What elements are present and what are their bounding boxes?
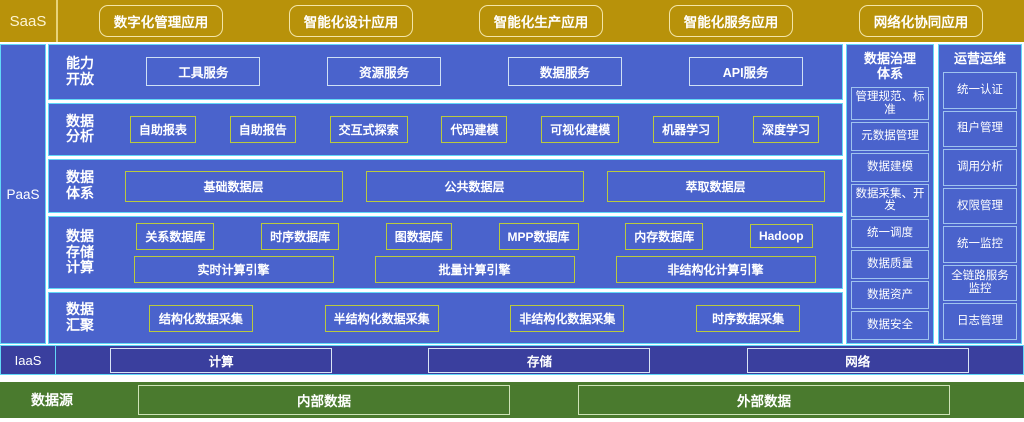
row-data-storage-compute-label: 数据 存储 计算 [49, 229, 107, 276]
row-ability-open-label: 能力 开放 [49, 56, 107, 87]
row-data-gathering: 数据 汇聚 结构化数据采集 半结构化数据采集 非结构化数据采集 时序数据采集 [48, 292, 843, 344]
storage-engine-0[interactable]: 实时计算引擎 [134, 256, 334, 283]
ops-item-3[interactable]: 权限管理 [943, 188, 1017, 225]
row-storage-label-line1: 数据 [66, 229, 94, 245]
paas-layer: PaaS 能力 开放 工具服务 资源服务 数据服务 API服务 [0, 44, 1024, 344]
gathering-item-2[interactable]: 非结构化数据采集 [510, 305, 624, 332]
row-data-analysis: 数据 分析 自助报表 自助报告 交互式探索 代码建模 可视化建模 机器学习 深度… [48, 103, 843, 157]
paas-rows: 能力 开放 工具服务 资源服务 数据服务 API服务 [48, 44, 843, 344]
row-data-system-label-line2: 体系 [66, 186, 94, 202]
saas-layer: SaaS 数字化管理应用 智能化设计应用 智能化生产应用 智能化服务应用 网络化… [0, 0, 1024, 42]
storage-engine-1[interactable]: 批量计算引擎 [375, 256, 575, 283]
gathering-item-1[interactable]: 半结构化数据采集 [325, 305, 439, 332]
panel-operations-maintenance-title: 运营运维 [954, 52, 1006, 67]
governance-item-3[interactable]: 数据采集、开发 [851, 184, 929, 217]
row-data-gathering-content: 结构化数据采集 半结构化数据采集 非结构化数据采集 时序数据采集 [107, 293, 842, 343]
analysis-item-6[interactable]: 深度学习 [753, 116, 819, 143]
ops-item-0[interactable]: 统一认证 [943, 72, 1017, 109]
analysis-item-0[interactable]: 自助报表 [130, 116, 196, 143]
ability-item-1[interactable]: 资源服务 [327, 57, 441, 86]
paas-body: 能力 开放 工具服务 资源服务 数据服务 API服务 [46, 44, 1024, 344]
iaas-item-0[interactable]: 计算 [110, 348, 332, 373]
row-storage-label-line2: 存储 [66, 245, 94, 261]
panel-operations-maintenance: 运营运维 统一认证 租户管理 调用分析 权限管理 统一监控 全链路服务监控 日志… [938, 44, 1022, 344]
saas-item-3[interactable]: 智能化服务应用 [669, 5, 794, 37]
row-ability-open: 能力 开放 工具服务 资源服务 数据服务 API服务 [48, 44, 843, 100]
row-ability-open-label-line2: 开放 [66, 72, 94, 88]
saas-item-0[interactable]: 数字化管理应用 [99, 5, 224, 37]
saas-item-1[interactable]: 智能化设计应用 [289, 5, 414, 37]
iaas-item-1[interactable]: 存储 [428, 348, 650, 373]
governance-item-6[interactable]: 数据资产 [851, 281, 929, 310]
row-ability-open-content: 工具服务 资源服务 数据服务 API服务 [107, 45, 842, 99]
datasource-item-1[interactable]: 外部数据 [578, 385, 950, 415]
governance-item-4[interactable]: 统一调度 [851, 219, 929, 248]
governance-title-line1: 数据治理 [864, 52, 916, 67]
analysis-item-5[interactable]: 机器学习 [653, 116, 719, 143]
row-data-system: 数据 体系 基础数据层 公共数据层 萃取数据层 [48, 159, 843, 213]
saas-item-4[interactable]: 网络化协同应用 [859, 5, 984, 37]
row-data-analysis-label-line1: 数据 [66, 114, 94, 130]
analysis-item-4[interactable]: 可视化建模 [541, 116, 619, 143]
row-data-analysis-label-line2: 分析 [66, 129, 94, 145]
storage-db-5[interactable]: Hadoop [750, 224, 813, 248]
system-item-1[interactable]: 公共数据层 [366, 171, 584, 202]
iaas-layer: IaaS 计算 存储 网络 [0, 345, 1024, 375]
ability-item-3[interactable]: API服务 [689, 57, 803, 86]
storage-engine-2[interactable]: 非结构化计算引擎 [616, 256, 816, 283]
ops-item-6[interactable]: 日志管理 [943, 303, 1017, 340]
row-data-gathering-label: 数据 汇聚 [49, 302, 107, 333]
row-data-system-label-line1: 数据 [66, 170, 94, 186]
analysis-item-1[interactable]: 自助报告 [230, 116, 296, 143]
governance-item-7[interactable]: 数据安全 [851, 311, 929, 340]
row-data-analysis-content: 自助报表 自助报告 交互式探索 代码建模 可视化建模 机器学习 深度学习 [107, 104, 842, 156]
panel-data-governance: 数据治理 体系 管理规范、标准 元数据管理 数据建模 数据采集、开发 统一调度 … [846, 44, 934, 344]
datasource-layer-label: 数据源 [0, 390, 104, 410]
paas-layer-label: PaaS [0, 44, 46, 344]
storage-db-4[interactable]: 内存数据库 [625, 223, 703, 250]
ops-item-2[interactable]: 调用分析 [943, 149, 1017, 186]
governance-title-line2: 体系 [864, 67, 916, 82]
panel-data-governance-title: 数据治理 体系 [864, 52, 916, 82]
ability-item-2[interactable]: 数据服务 [508, 57, 622, 86]
system-item-0[interactable]: 基础数据层 [125, 171, 343, 202]
system-item-2[interactable]: 萃取数据层 [607, 171, 825, 202]
row-data-storage-compute-content: 关系数据库 时序数据库 图数据库 MPP数据库 内存数据库 Hadoop 实时计… [107, 217, 842, 288]
datasource-items: 内部数据 外部数据 [104, 385, 1024, 415]
datasource-item-0[interactable]: 内部数据 [138, 385, 510, 415]
saas-item-2[interactable]: 智能化生产应用 [479, 5, 604, 37]
paas-side-panels: 数据治理 体系 管理规范、标准 元数据管理 数据建模 数据采集、开发 统一调度 … [846, 44, 1024, 344]
iaas-item-2[interactable]: 网络 [747, 348, 969, 373]
row-gathering-label-line1: 数据 [66, 302, 94, 318]
governance-item-5[interactable]: 数据质量 [851, 250, 929, 279]
saas-layer-label: SaaS [0, 0, 58, 42]
panel-operations-maintenance-items: 统一认证 租户管理 调用分析 权限管理 统一监控 全链路服务监控 日志管理 [943, 72, 1017, 340]
gathering-item-0[interactable]: 结构化数据采集 [149, 305, 253, 332]
row-data-system-label: 数据 体系 [49, 170, 107, 201]
row-gathering-label-line2: 汇聚 [66, 318, 94, 334]
governance-item-1[interactable]: 元数据管理 [851, 122, 929, 151]
architecture-diagram: SaaS 数字化管理应用 智能化设计应用 智能化生产应用 智能化服务应用 网络化… [0, 0, 1024, 422]
governance-item-0[interactable]: 管理规范、标准 [851, 87, 929, 120]
saas-items: 数字化管理应用 智能化设计应用 智能化生产应用 智能化服务应用 网络化协同应用 [58, 0, 1024, 42]
analysis-item-2[interactable]: 交互式探索 [330, 116, 408, 143]
ops-item-4[interactable]: 统一监控 [943, 226, 1017, 263]
storage-db-row: 关系数据库 时序数据库 图数据库 MPP数据库 内存数据库 Hadoop [107, 223, 842, 250]
row-data-system-content: 基础数据层 公共数据层 萃取数据层 [107, 160, 842, 212]
storage-db-0[interactable]: 关系数据库 [136, 223, 214, 250]
storage-db-3[interactable]: MPP数据库 [499, 223, 579, 250]
storage-db-2[interactable]: 图数据库 [386, 223, 452, 250]
panel-data-governance-items: 管理规范、标准 元数据管理 数据建模 数据采集、开发 统一调度 数据质量 数据资… [851, 87, 929, 340]
storage-db-1[interactable]: 时序数据库 [261, 223, 339, 250]
row-data-analysis-label: 数据 分析 [49, 114, 107, 145]
datasource-layer: 数据源 内部数据 外部数据 [0, 382, 1024, 418]
analysis-item-3[interactable]: 代码建模 [441, 116, 507, 143]
governance-item-2[interactable]: 数据建模 [851, 153, 929, 182]
row-data-storage-compute: 数据 存储 计算 关系数据库 时序数据库 图数据库 MPP数据库 内存数据库 H… [48, 216, 843, 289]
ops-item-1[interactable]: 租户管理 [943, 111, 1017, 148]
ability-item-0[interactable]: 工具服务 [146, 57, 260, 86]
storage-engine-row: 实时计算引擎 批量计算引擎 非结构化计算引擎 [107, 256, 842, 283]
row-ability-open-label-line1: 能力 [66, 56, 94, 72]
iaas-items: 计算 存储 网络 [56, 345, 1024, 375]
gathering-item-3[interactable]: 时序数据采集 [696, 305, 800, 332]
row-storage-label-line3: 计算 [66, 260, 94, 276]
ops-item-5[interactable]: 全链路服务监控 [943, 265, 1017, 302]
iaas-layer-label: IaaS [0, 345, 56, 375]
